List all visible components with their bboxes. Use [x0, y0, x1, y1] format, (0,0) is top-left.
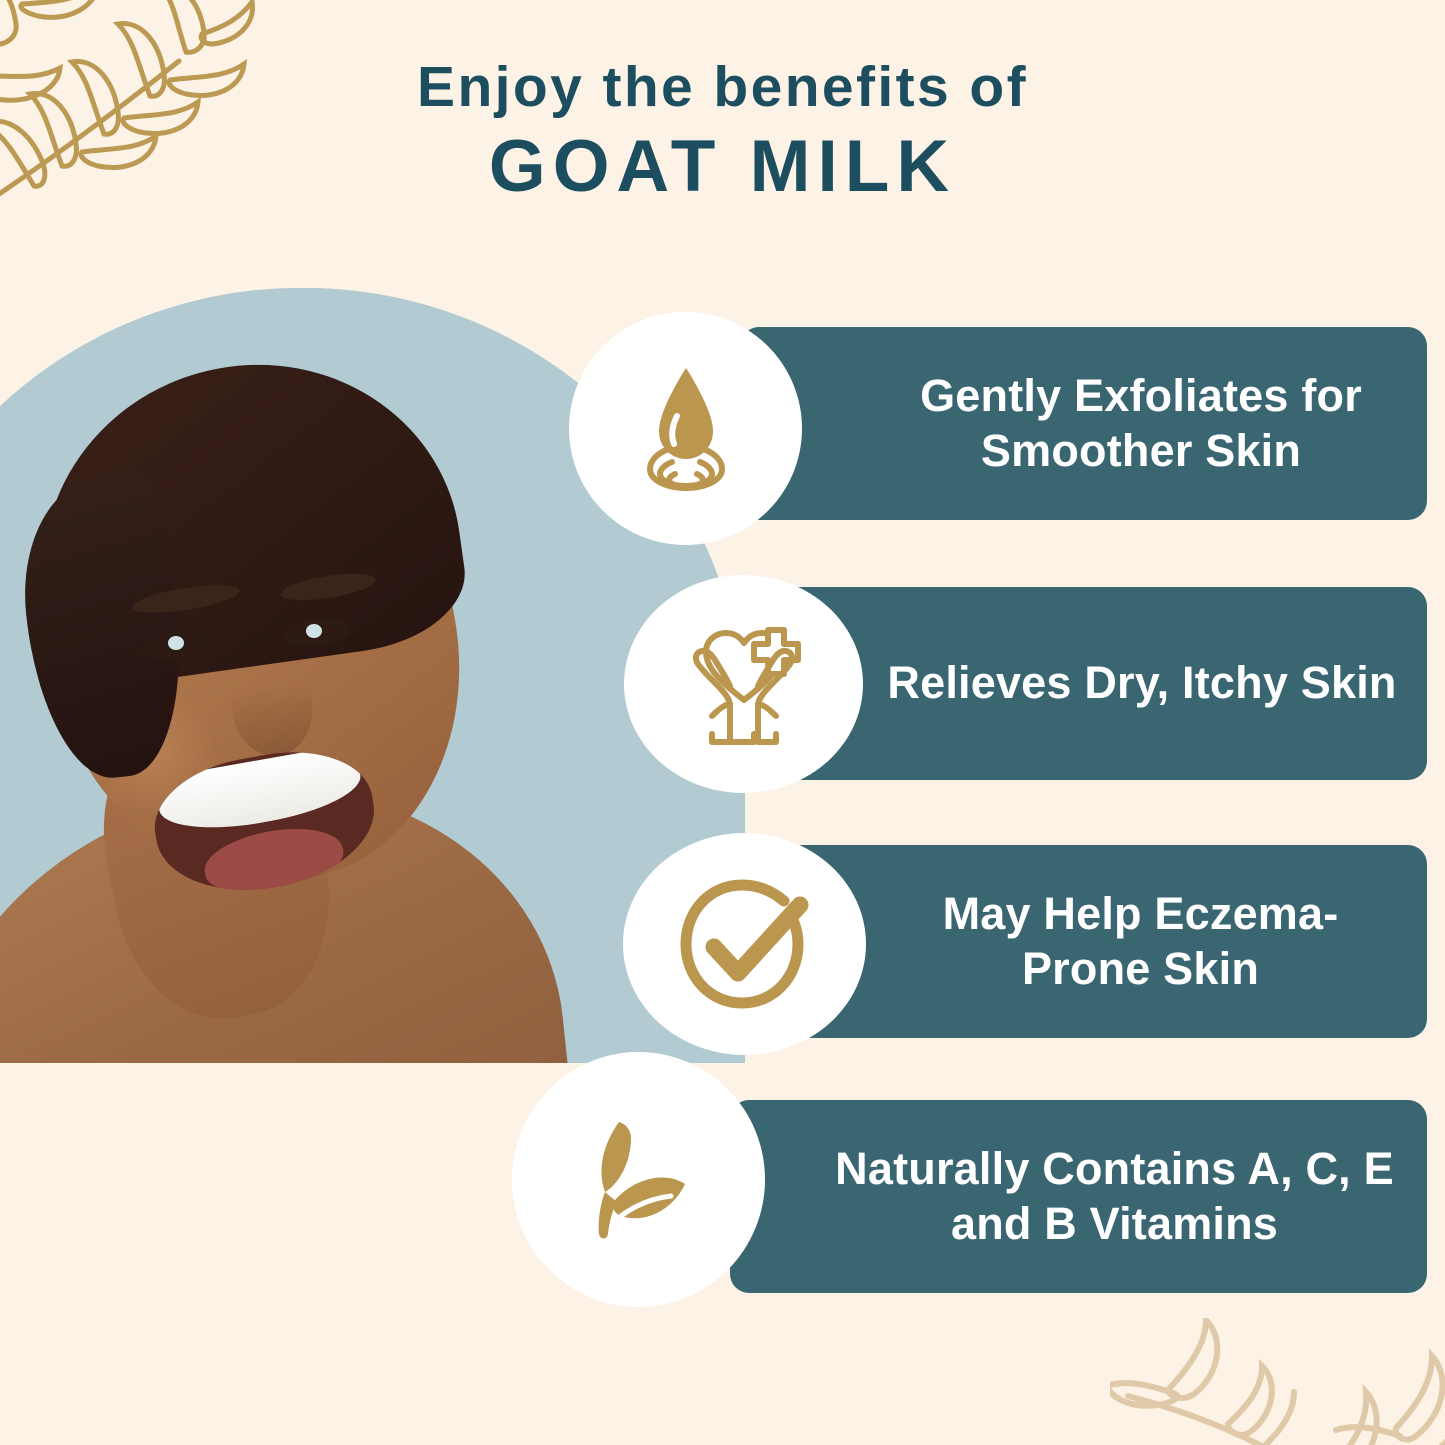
- page-title: Enjoy the benefits of GOAT MILK: [0, 58, 1445, 210]
- benefit-card-4[interactable]: Naturally Contains A, C, E and B Vitamin…: [730, 1100, 1427, 1293]
- leaves-icon: [559, 1100, 719, 1260]
- headline-line-1: Enjoy the benefits of: [0, 58, 1445, 118]
- botanical-branch-bottom-right-icon: [1110, 1318, 1445, 1445]
- infographic-canvas: Enjoy the benefits of GOAT MILK Gently E…: [0, 0, 1445, 1445]
- hands-holding-heart-cross-icon: [668, 608, 820, 760]
- benefit-label-1: Gently Exfoliates for Smoother Skin: [740, 369, 1427, 479]
- benefit-icon-bubble-2: [624, 575, 863, 793]
- benefit-icon-bubble-4: [512, 1052, 765, 1307]
- benefit-icon-bubble-3: [623, 833, 866, 1055]
- water-droplet-ripple-icon: [611, 354, 761, 504]
- benefit-icon-bubble-1: [569, 312, 802, 545]
- benefit-card-1[interactable]: Gently Exfoliates for Smoother Skin: [740, 327, 1427, 520]
- benefit-label-4: Naturally Contains A, C, E and B Vitamin…: [730, 1142, 1427, 1252]
- checkmark-circle-icon: [666, 865, 824, 1023]
- headline-line-2: GOAT MILK: [0, 124, 1445, 210]
